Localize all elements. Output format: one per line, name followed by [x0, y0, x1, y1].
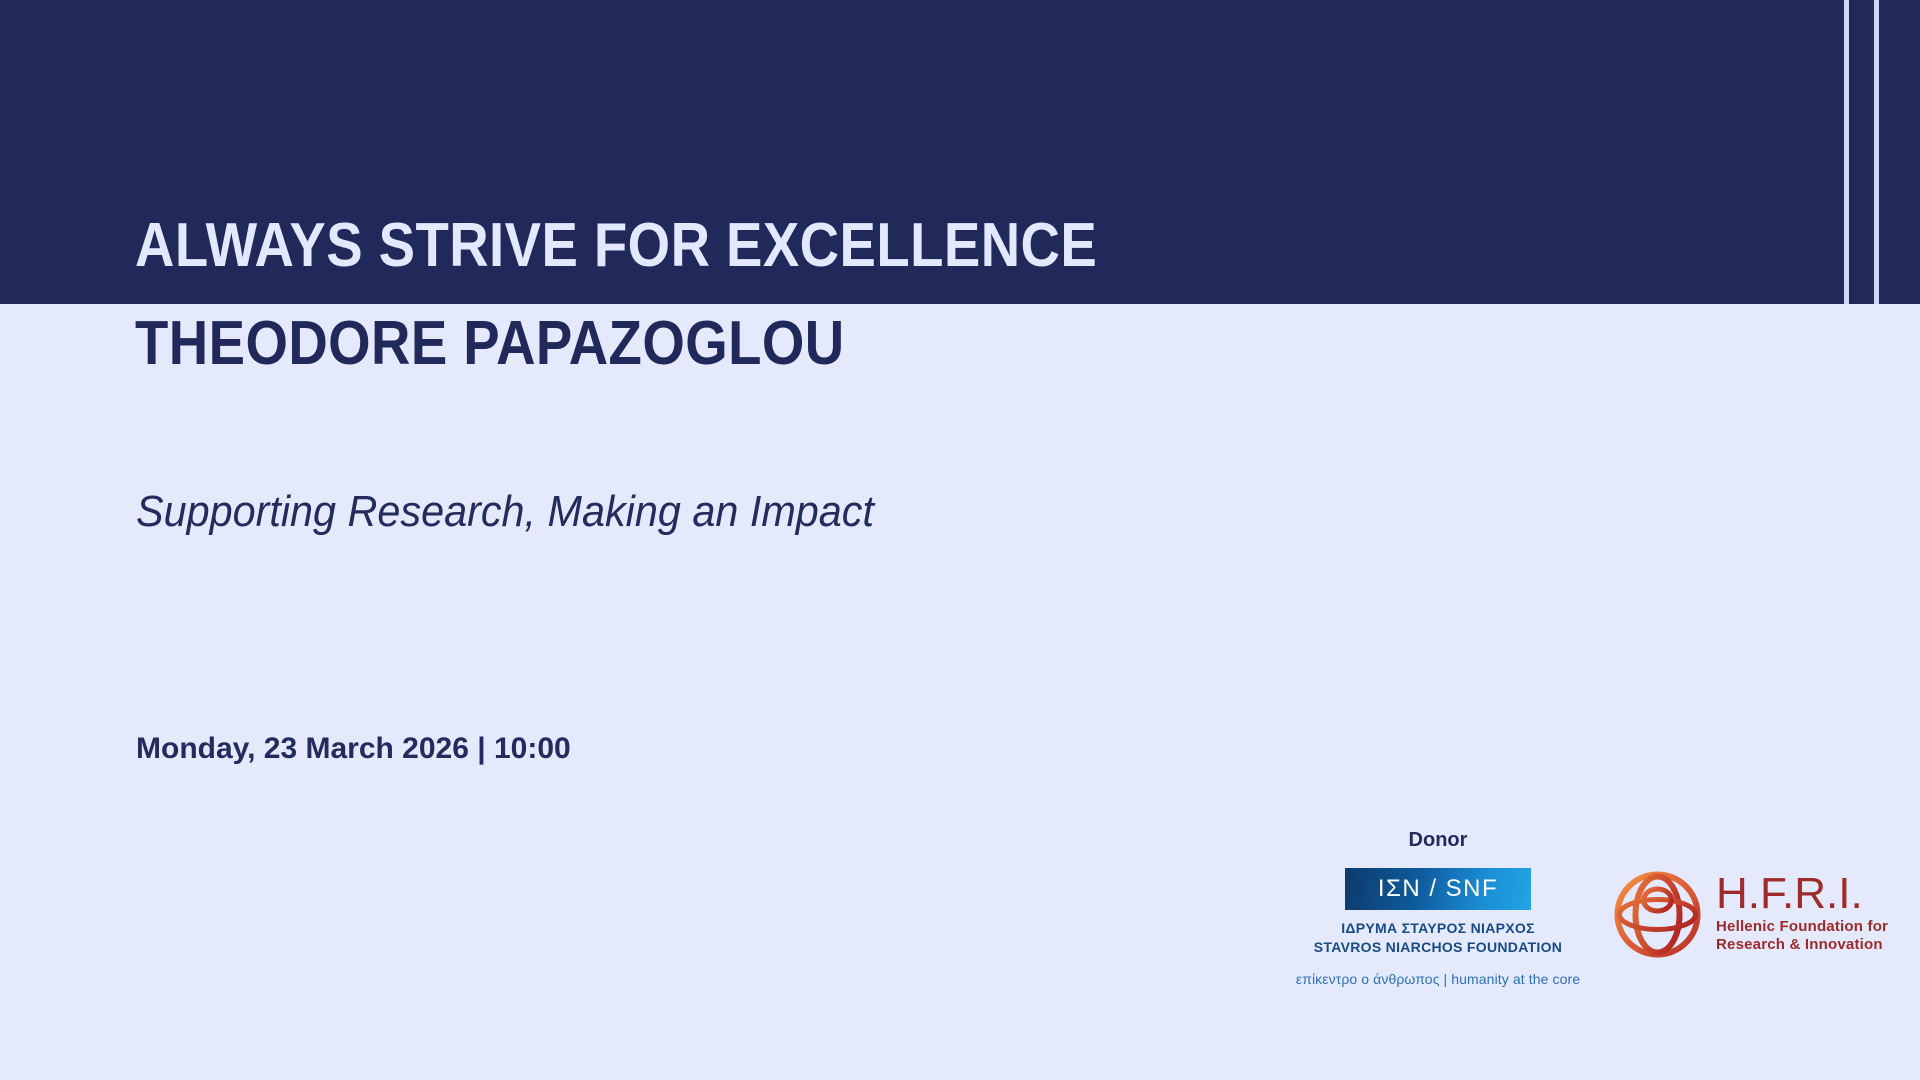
hfri-logo-block: H.F.R.I. Hellenic Foundation for Researc… — [1605, 862, 1888, 967]
slide-datetime: Monday, 23 March 2026 | 10:00 — [136, 734, 571, 764]
hfri-globe-icon — [1605, 862, 1710, 967]
slide-subtitle: Supporting Research, Making an Impact — [136, 490, 874, 534]
snf-name-english: STAVROS NIARCHOS FOUNDATION — [1283, 938, 1593, 957]
snf-name-greek: ΙΔΡΥΜΑ ΣΤΑΥΡΟΣ ΝΙΑΡΧΟΣ — [1283, 919, 1593, 938]
donor-block: Donor ΙΣΝ / SNF ΙΔΡΥΜΑ ΣΤΑΥΡΟΣ ΝΙΑΡΧΟΣ S… — [1283, 828, 1593, 989]
accent-line-right — [1874, 0, 1879, 304]
accent-line-left — [1844, 0, 1849, 304]
snf-logo-text: ΙΣΝ / SNF — [1378, 875, 1498, 903]
hfri-subtitle-line-2: Research & Innovation — [1716, 936, 1888, 954]
hfri-acronym: H.F.R.I. — [1716, 874, 1888, 914]
slide-title-line-1: ALWAYS STRIVE FOR EXCELLENCE — [135, 215, 1097, 277]
donor-label: Donor — [1283, 828, 1593, 852]
snf-tagline: επίκεντρο ο άνθρωπος | humanity at the c… — [1283, 970, 1593, 990]
slide-title-line-2: THEODORE PAPAZOGLOU — [135, 313, 845, 375]
snf-logo-mark: ΙΣΝ / SNF — [1345, 868, 1531, 910]
hfri-text-block: H.F.R.I. Hellenic Foundation for Researc… — [1716, 874, 1888, 954]
presentation-slide: ALWAYS STRIVE FOR EXCELLENCE THEODORE PA… — [0, 0, 1920, 1080]
hfri-subtitle-line-1: Hellenic Foundation for — [1716, 918, 1888, 936]
